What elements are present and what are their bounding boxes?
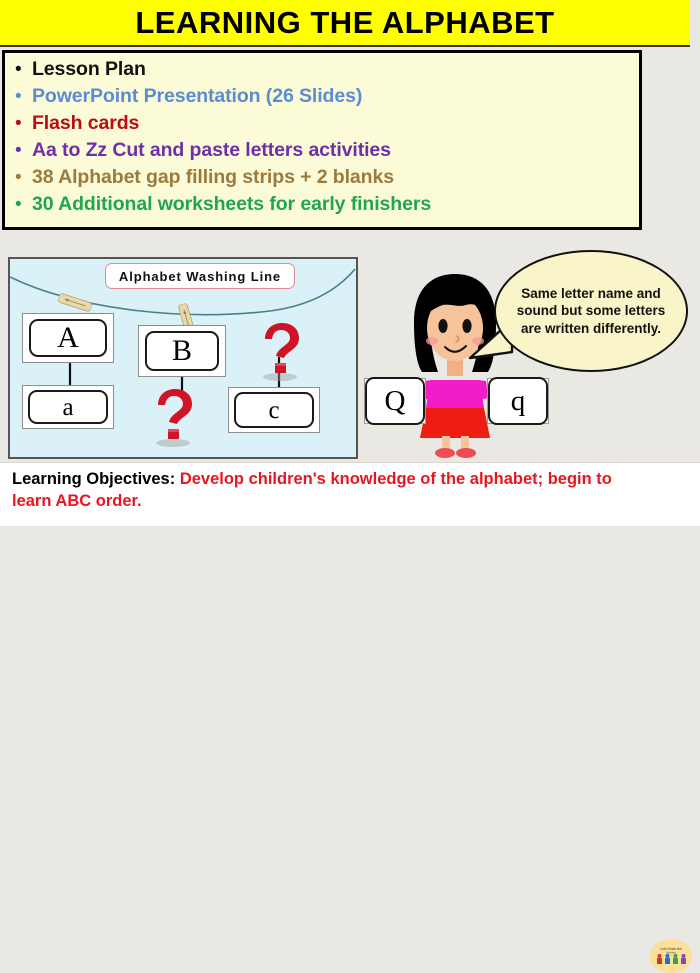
- card-letter: a: [62, 395, 73, 420]
- card-letter: q: [511, 385, 526, 418]
- card-face: q: [488, 377, 548, 425]
- speech-bubble-text: Same letter name and sound but some lett…: [496, 285, 686, 337]
- card-letter: c: [268, 398, 279, 423]
- card-face: Q: [365, 377, 425, 425]
- card-lower-q[interactable]: q: [487, 378, 549, 424]
- list-item-label: Flash cards: [32, 112, 139, 135]
- girl-character: [400, 268, 510, 458]
- card-upper-b[interactable]: B: [138, 325, 226, 377]
- card-face: B: [145, 331, 219, 371]
- contents-panel: • Lesson Plan • PowerPoint Presentation …: [2, 50, 642, 230]
- washing-line-panel: Alphabet Washing Line A: [8, 257, 358, 459]
- card-lower-c[interactable]: c: [228, 387, 320, 433]
- card-letter: Q: [385, 385, 406, 418]
- svg-text:Let's Teach the: Let's Teach the: [660, 947, 682, 951]
- list-item: • Aa to Zz Cut and paste letters activit…: [5, 139, 639, 166]
- list-item-label: Aa to Zz Cut and paste letters activitie…: [32, 139, 391, 162]
- list-item-label: 30 Additional worksheets for early finis…: [32, 193, 431, 216]
- bullet-icon: •: [15, 195, 32, 214]
- publisher-logo-icon: Let's Teach the Alphabet: [650, 939, 692, 973]
- card-face: A: [29, 319, 107, 357]
- title-banner: LEARNING THE ALPHABET: [0, 0, 690, 47]
- list-item: • PowerPoint Presentation (26 Slides): [5, 85, 639, 112]
- card-letter: B: [172, 336, 192, 366]
- card-upper-q[interactable]: Q: [364, 378, 426, 424]
- list-item: • 30 Additional worksheets for early fin…: [5, 193, 639, 220]
- card-letter: A: [57, 323, 79, 353]
- bullet-icon: •: [15, 87, 32, 106]
- slide-canvas: LEARNING THE ALPHABET • Lesson Plan • Po…: [0, 0, 700, 525]
- card-face: a: [28, 390, 108, 424]
- svg-text:Alphabet: Alphabet: [666, 951, 677, 955]
- question-mark-icon: [257, 321, 303, 383]
- learning-objectives: Learning Objectives: Develop children's …: [12, 469, 642, 513]
- card-lower-a[interactable]: a: [22, 385, 114, 429]
- question-mark-icon: [150, 387, 196, 449]
- bullet-icon: •: [15, 114, 32, 133]
- list-item-label: PowerPoint Presentation (26 Slides): [32, 85, 362, 108]
- page-title: LEARNING THE ALPHABET: [135, 5, 554, 41]
- card-face: c: [234, 392, 314, 428]
- list-item-label: 38 Alphabet gap filling strips + 2 blank…: [32, 166, 394, 189]
- list-item: • Lesson Plan: [5, 58, 639, 85]
- learning-objectives-separator: :: [170, 470, 180, 488]
- list-item: • 38 Alphabet gap filling strips + 2 bla…: [5, 166, 639, 193]
- bullet-icon: •: [15, 168, 32, 187]
- bullet-icon: •: [15, 60, 32, 79]
- speech-bubble: Same letter name and sound but some lett…: [494, 250, 688, 372]
- bullet-icon: •: [15, 141, 32, 160]
- footer-bar: Learning Objectives: Develop children's …: [0, 462, 700, 526]
- list-item-label: Lesson Plan: [32, 58, 146, 81]
- card-upper-a[interactable]: A: [22, 313, 114, 363]
- learning-objectives-label: Learning Objectives: [12, 470, 170, 488]
- list-item: • Flash cards: [5, 112, 639, 139]
